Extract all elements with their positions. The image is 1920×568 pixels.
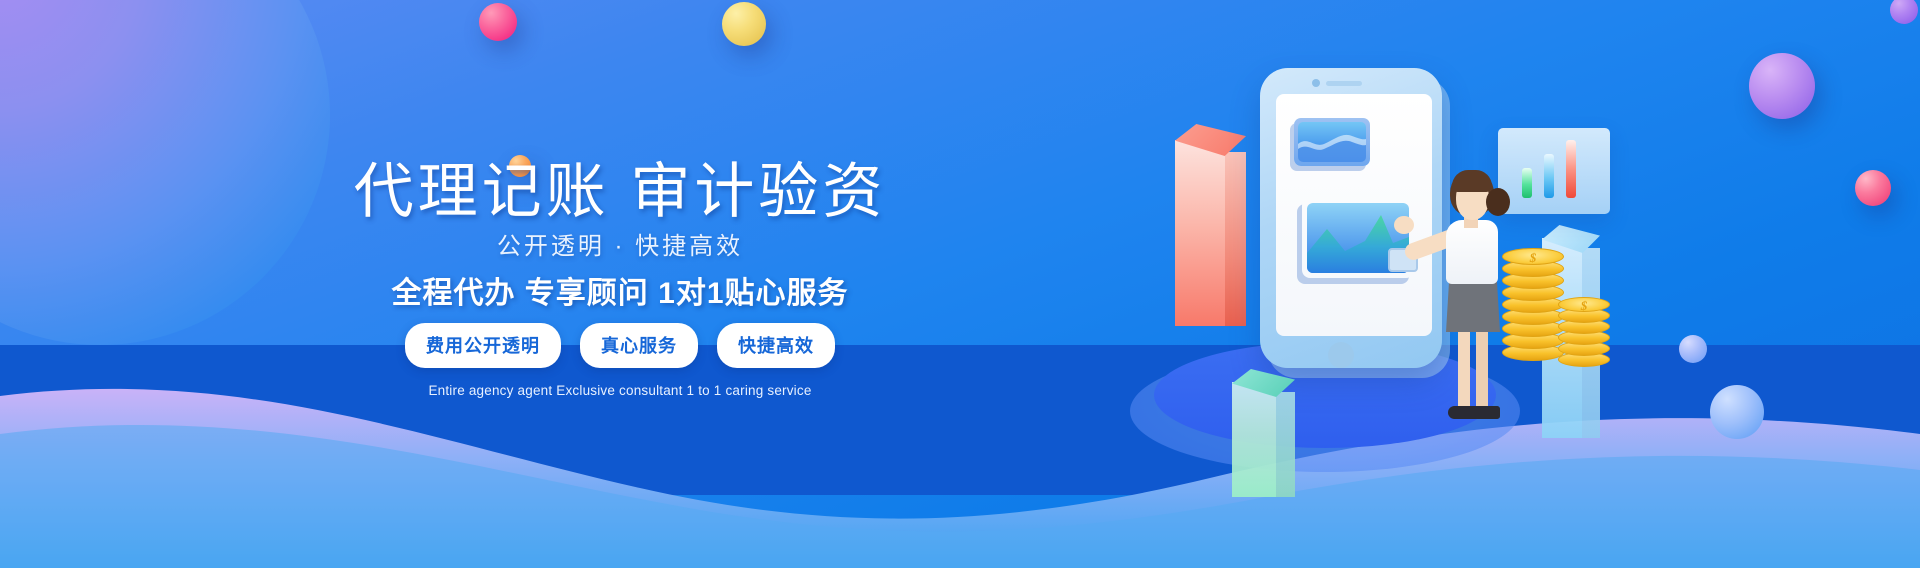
feature-pill-row: 费用公开透明 真心服务 快捷高效	[0, 323, 1240, 368]
floating-report-card	[1498, 128, 1610, 214]
purple-top-sphere	[1890, 0, 1918, 24]
banner-copy: 代理记账 审计验资 公开透明 · 快捷高效 全程代办 专享顾问 1对1贴心服务 …	[0, 0, 1240, 568]
banner-tagline: 全程代办 专享顾问 1对1贴心服务	[0, 268, 1240, 312]
gold-coin-stacks: $ $	[1502, 248, 1672, 378]
feature-pill-sincere-service[interactable]: 真心服务	[580, 323, 698, 368]
english-caption: Entire agency agent Exclusive consultant…	[0, 383, 1240, 398]
feature-pill-fast-efficient[interactable]: 快捷高效	[717, 323, 835, 368]
speaker-grill-icon	[1326, 81, 1362, 86]
report-bar-blue	[1544, 154, 1554, 198]
purple-sphere	[1749, 53, 1815, 119]
dollar-icon: $	[1559, 298, 1609, 313]
small-area-chart	[1298, 122, 1366, 162]
report-bar-green	[1522, 168, 1532, 198]
lightblue-sphere-b	[1710, 385, 1764, 439]
home-button-icon	[1328, 342, 1354, 368]
report-bar-red	[1566, 140, 1576, 198]
businesswoman-shoe-right	[1470, 406, 1500, 419]
businesswoman-leg-left	[1458, 328, 1470, 410]
cyan-3d-bar-side	[1276, 392, 1295, 497]
camera-icon	[1312, 79, 1320, 87]
lightblue-sphere-a	[1679, 335, 1707, 363]
businesswoman-hand	[1394, 216, 1414, 234]
page-title: 代理记账 审计验资	[0, 143, 1240, 230]
banner-subtitle: 公开透明 · 快捷高效	[0, 226, 1240, 261]
businesswoman-blouse	[1446, 220, 1498, 284]
businesswoman-skirt	[1446, 278, 1500, 332]
feature-pill-transparent-fees[interactable]: 费用公开透明	[405, 323, 561, 368]
businesswoman-hair-front	[1452, 170, 1492, 192]
businesswoman-hair-bun	[1486, 188, 1510, 216]
rose-sphere	[1855, 170, 1891, 206]
dollar-icon: $	[1503, 249, 1563, 266]
promo-banner: $ $ 代理记账 审计验资 公开透明 · 快捷高效 全程代办 专享顾问 1对1贴…	[0, 0, 1920, 568]
businesswoman-leg-right	[1476, 328, 1488, 410]
